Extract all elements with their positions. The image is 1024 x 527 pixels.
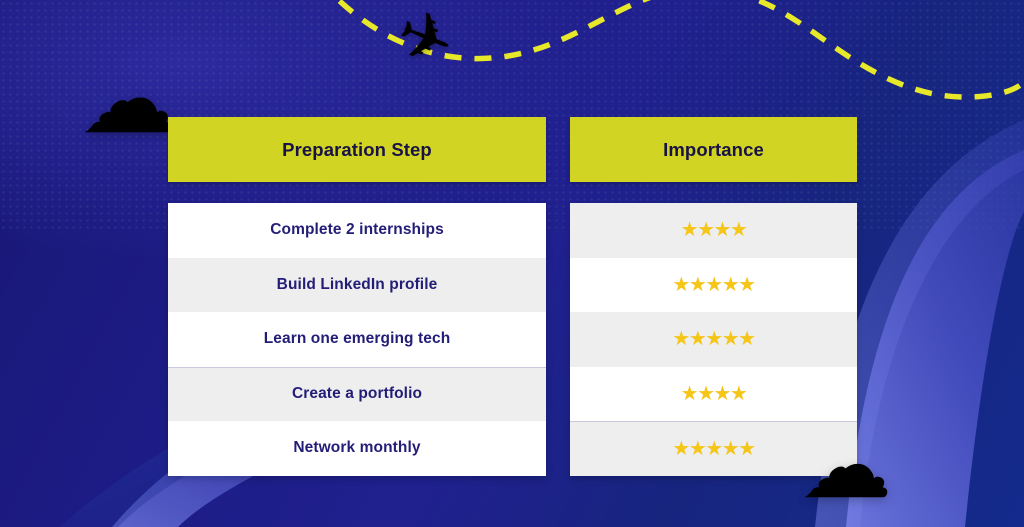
table-row: Create a portfolio xyxy=(168,367,546,422)
header-label-importance: Importance xyxy=(663,139,764,161)
row-label-step: Create a portfolio xyxy=(292,385,422,403)
table-body-preparation-step: Complete 2 internships Build LinkedIn pr… xyxy=(168,203,546,476)
table-row: ★★★★★ xyxy=(570,258,857,313)
table-row: Complete 2 internships xyxy=(168,203,546,258)
star-rating-icon: ★★★★★ xyxy=(672,439,754,459)
star-rating-icon: ★★★★ xyxy=(681,220,747,240)
star-rating-icon: ★★★★ xyxy=(681,384,747,404)
header-label-step: Preparation Step xyxy=(282,139,432,161)
star-rating-icon: ★★★★★ xyxy=(672,275,754,295)
row-label-step: Complete 2 internships xyxy=(270,221,444,239)
table-row: Learn one emerging tech xyxy=(168,312,546,367)
row-label-step: Network monthly xyxy=(293,439,420,457)
table-header-importance: Importance xyxy=(570,117,857,182)
table-row: ★★★★ xyxy=(570,203,857,258)
slide-canvas: ✈ ☁ Preparation Step Importance Complete… xyxy=(0,0,1024,527)
table-row: Build LinkedIn profile xyxy=(168,258,546,313)
table-row: ★★★★ xyxy=(570,367,857,422)
cloud-icon-bottom-right: ☁ xyxy=(800,420,892,512)
star-rating-icon: ★★★★★ xyxy=(672,329,754,349)
row-label-step: Build LinkedIn profile xyxy=(277,276,438,294)
table-header-preparation-step: Preparation Step xyxy=(168,117,546,182)
row-label-step: Learn one emerging tech xyxy=(264,330,451,348)
table-row: Network monthly xyxy=(168,421,546,476)
table-row: ★★★★★ xyxy=(570,312,857,367)
